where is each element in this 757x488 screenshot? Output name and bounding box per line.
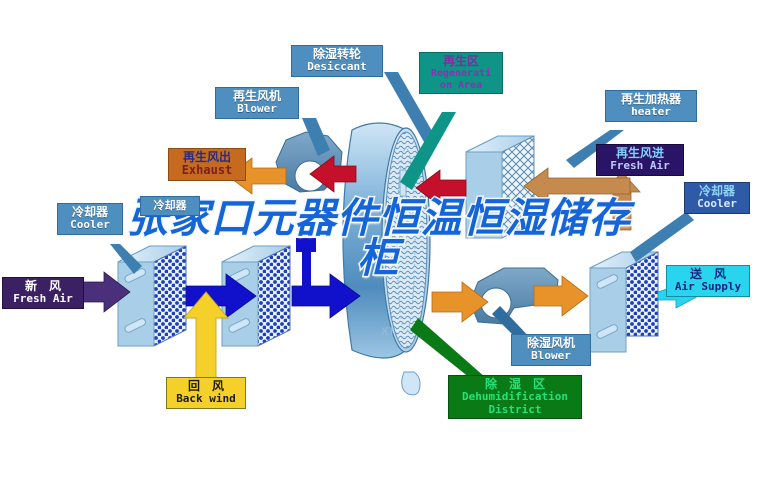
label-cooler-left-en: Cooler: [62, 219, 118, 231]
label-regen-fresh-air: 再生风进 Fresh Air: [596, 144, 684, 176]
label-cooler-right-en: Cooler: [689, 198, 745, 210]
label-dehumidification-district-en2: District: [453, 404, 577, 416]
label-cooler-right: 冷却器 Cooler: [684, 182, 750, 214]
label-fresh-air-cn: 新 风: [7, 280, 79, 293]
label-regen-fresh-air-en: Fresh Air: [601, 160, 679, 172]
label-back-wind: 回 风 Back wind: [166, 377, 246, 409]
label-regen-heater-en: heater: [610, 106, 692, 118]
label-exhaust: 再生风出 Exhaust: [168, 148, 246, 181]
label-cooler-left: 冷却器 Cooler: [57, 203, 123, 235]
label-dehumidification-district: 除 湿 区 Dehumidification District: [448, 375, 582, 419]
label-cooler-mid-cn: 冷却器: [145, 200, 195, 212]
label-desiccant-cn: 除湿转轮: [296, 48, 378, 61]
label-fresh-air: 新 风 Fresh Air: [2, 277, 84, 309]
label-cooler-left-cn: 冷却器: [62, 206, 118, 219]
arrow-cooler-bypass-down: [296, 238, 316, 290]
regeneration-heater-unit: [466, 136, 534, 238]
label-exhaust-cn: 再生风出: [173, 151, 241, 164]
label-fresh-air-en: Fresh Air: [7, 293, 79, 305]
label-cooler-right-cn: 冷却器: [689, 185, 745, 198]
label-regen-blower-en: Blower: [220, 103, 294, 115]
label-dehum-blower-en: Blower: [516, 350, 586, 362]
label-dehumidification-district-cn: 除 湿 区: [453, 378, 577, 391]
label-dehum-blower: 除湿风机 Blower: [511, 334, 591, 366]
label-exhaust-en: Exhaust: [173, 164, 241, 177]
label-regeneration-area-en: Regenerati: [424, 68, 498, 79]
label-regeneration-area: 再生区 Regenerati on Area: [419, 52, 503, 94]
label-regen-blower: 再生风机 Blower: [215, 87, 299, 119]
supply-coil-unit: [590, 252, 658, 352]
label-regen-heater: 再生加热器 heater: [605, 90, 697, 122]
label-cooler-mid: 冷却器: [140, 196, 200, 216]
label-back-wind-cn: 回 风: [171, 380, 241, 393]
label-desiccant-en: Desiccant: [296, 61, 378, 73]
label-regeneration-area-en2: on Area: [424, 80, 498, 91]
label-air-supply-en: Air Supply: [671, 281, 745, 293]
label-regen-blower-cn: 再生风机: [220, 90, 294, 103]
dehumidifier-schematic-diagram: XT: [0, 0, 757, 488]
label-desiccant: 除湿转轮 Desiccant: [291, 45, 383, 77]
label-dehum-blower-cn: 除湿风机: [516, 337, 586, 350]
label-back-wind-en: Back wind: [171, 393, 241, 405]
label-dehumidification-district-en: Dehumidification: [453, 391, 577, 403]
label-regeneration-area-cn: 再生区: [424, 55, 498, 68]
label-air-supply-cn: 送 风: [671, 268, 745, 281]
label-regen-heater-cn: 再生加热器: [610, 93, 692, 106]
wheel-face-mark: XT: [381, 326, 395, 338]
label-regen-fresh-air-cn: 再生风进: [601, 147, 679, 160]
label-air-supply: 送 风 Air Supply: [666, 265, 750, 297]
